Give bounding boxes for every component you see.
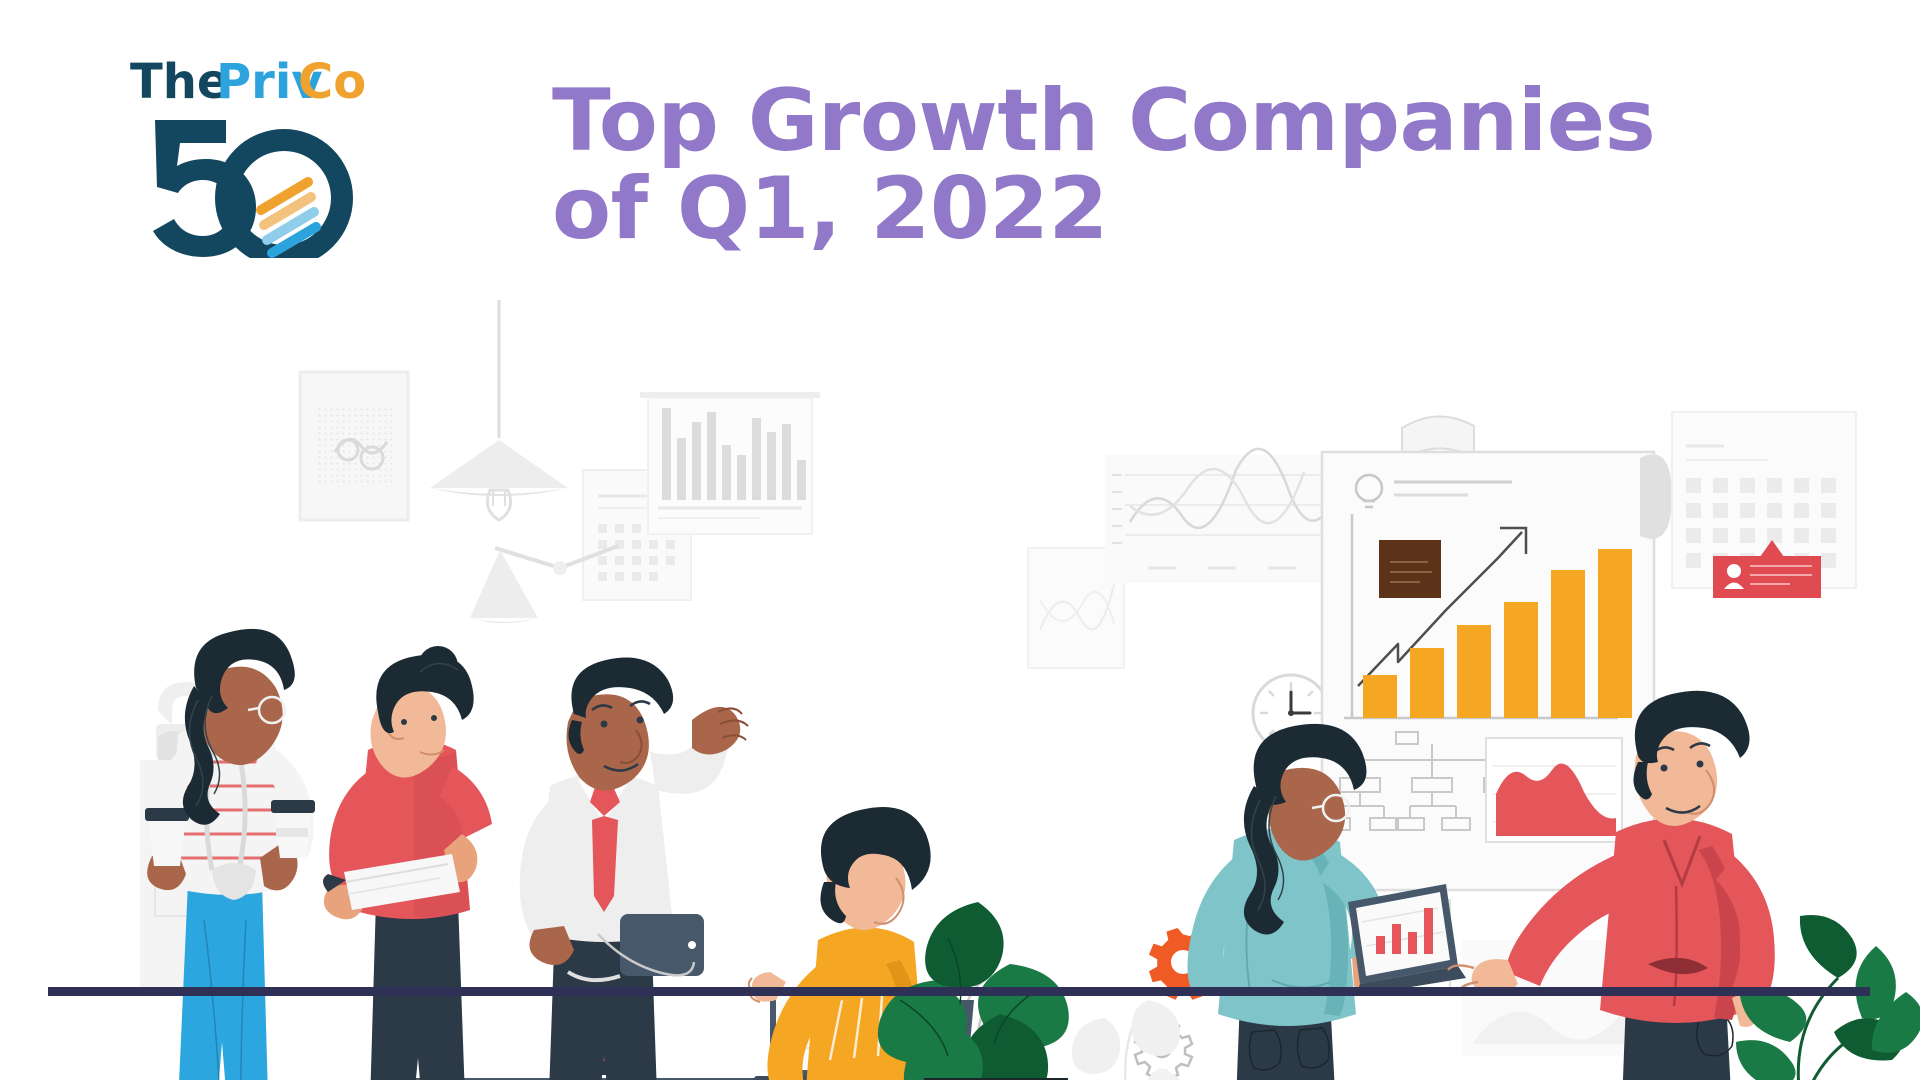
page-title: Top Growth Companies of Q1, 2022: [552, 78, 1852, 253]
ghost-plant: [1072, 1000, 1186, 1080]
sticky-note: [1379, 540, 1441, 598]
banner-header: The Priv Co: [0, 0, 1920, 300]
privco-50-banner: The Priv Co: [0, 0, 1920, 1080]
flipchart-board: [1322, 416, 1672, 890]
red-area-chart: [1486, 738, 1622, 842]
ground-line-visible: [48, 987, 1870, 996]
the-privco-50-logo: The Priv Co: [130, 48, 390, 258]
pendant-lamp: [430, 300, 568, 520]
logo-word-the: The: [130, 54, 229, 110]
wall-picture-frame: [300, 372, 408, 520]
logo-word-co: Co: [298, 54, 366, 110]
office-team-analytics-illustration: [0, 300, 1920, 1080]
woman-with-notebook: [323, 646, 492, 1080]
presentation-board-background: [640, 392, 820, 534]
man-presenting-tablet: [520, 658, 748, 1080]
held-laptop: [1348, 884, 1466, 996]
